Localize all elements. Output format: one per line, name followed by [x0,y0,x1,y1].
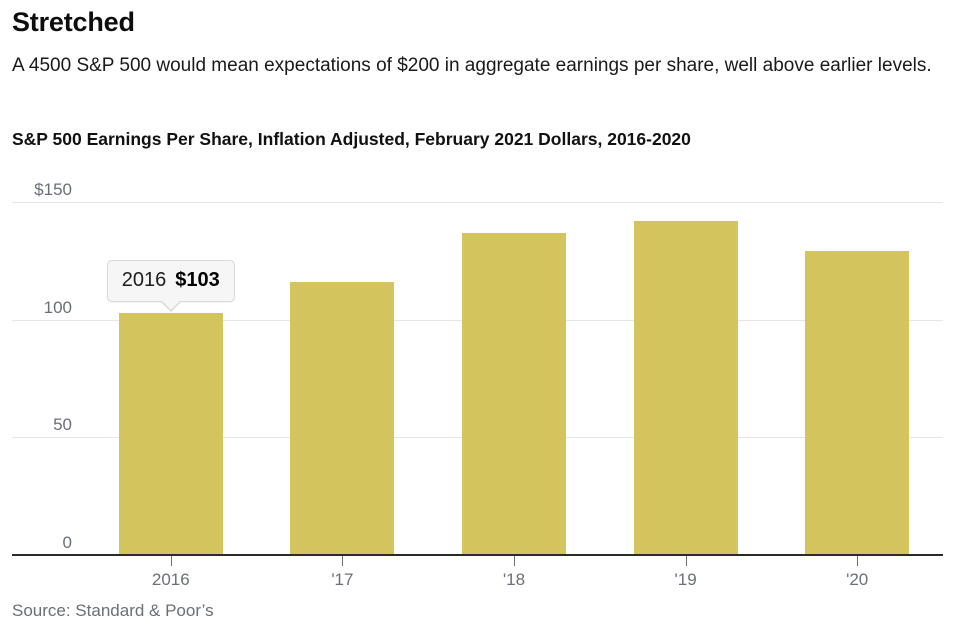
x-axis-tick-label: 2016 [152,570,190,590]
x-axis-tick-mark [857,556,858,566]
bar-2016[interactable] [119,313,223,555]
bar-18[interactable] [462,233,566,555]
x-axis-tick-label: '17 [331,570,353,590]
source-note: Source: Standard & Poor’s [12,600,214,622]
x-axis-tick-mark [171,556,172,566]
bar-17[interactable] [290,282,394,555]
x-axis-tick-label: '19 [675,570,697,590]
tooltip-arrow-inner [161,300,181,310]
x-axis-tick-mark [686,556,687,566]
x-axis-tick-label: '20 [846,570,868,590]
data-tooltip[interactable]: 2016$103 [107,260,235,302]
gridline [12,202,943,203]
x-axis-line [12,554,943,556]
y-axis-tick-label: $150 [10,181,72,198]
chart-page: Stretched A 4500 S&P 500 would mean expe… [0,0,962,639]
tooltip-value: $103 [175,269,220,291]
x-axis-tick-mark [514,556,515,566]
x-axis-tick-label: '18 [503,570,525,590]
bar-chart: $150100500 2016'17'18'19'20 [0,0,962,639]
bar-20[interactable] [805,251,909,555]
bar-19[interactable] [634,221,738,555]
x-axis-tick-mark [342,556,343,566]
y-axis-tick-label: 0 [10,534,72,551]
y-axis-tick-label: 100 [10,299,72,316]
tooltip-category: 2016 [122,269,167,291]
y-axis-tick-label: 50 [10,416,72,433]
